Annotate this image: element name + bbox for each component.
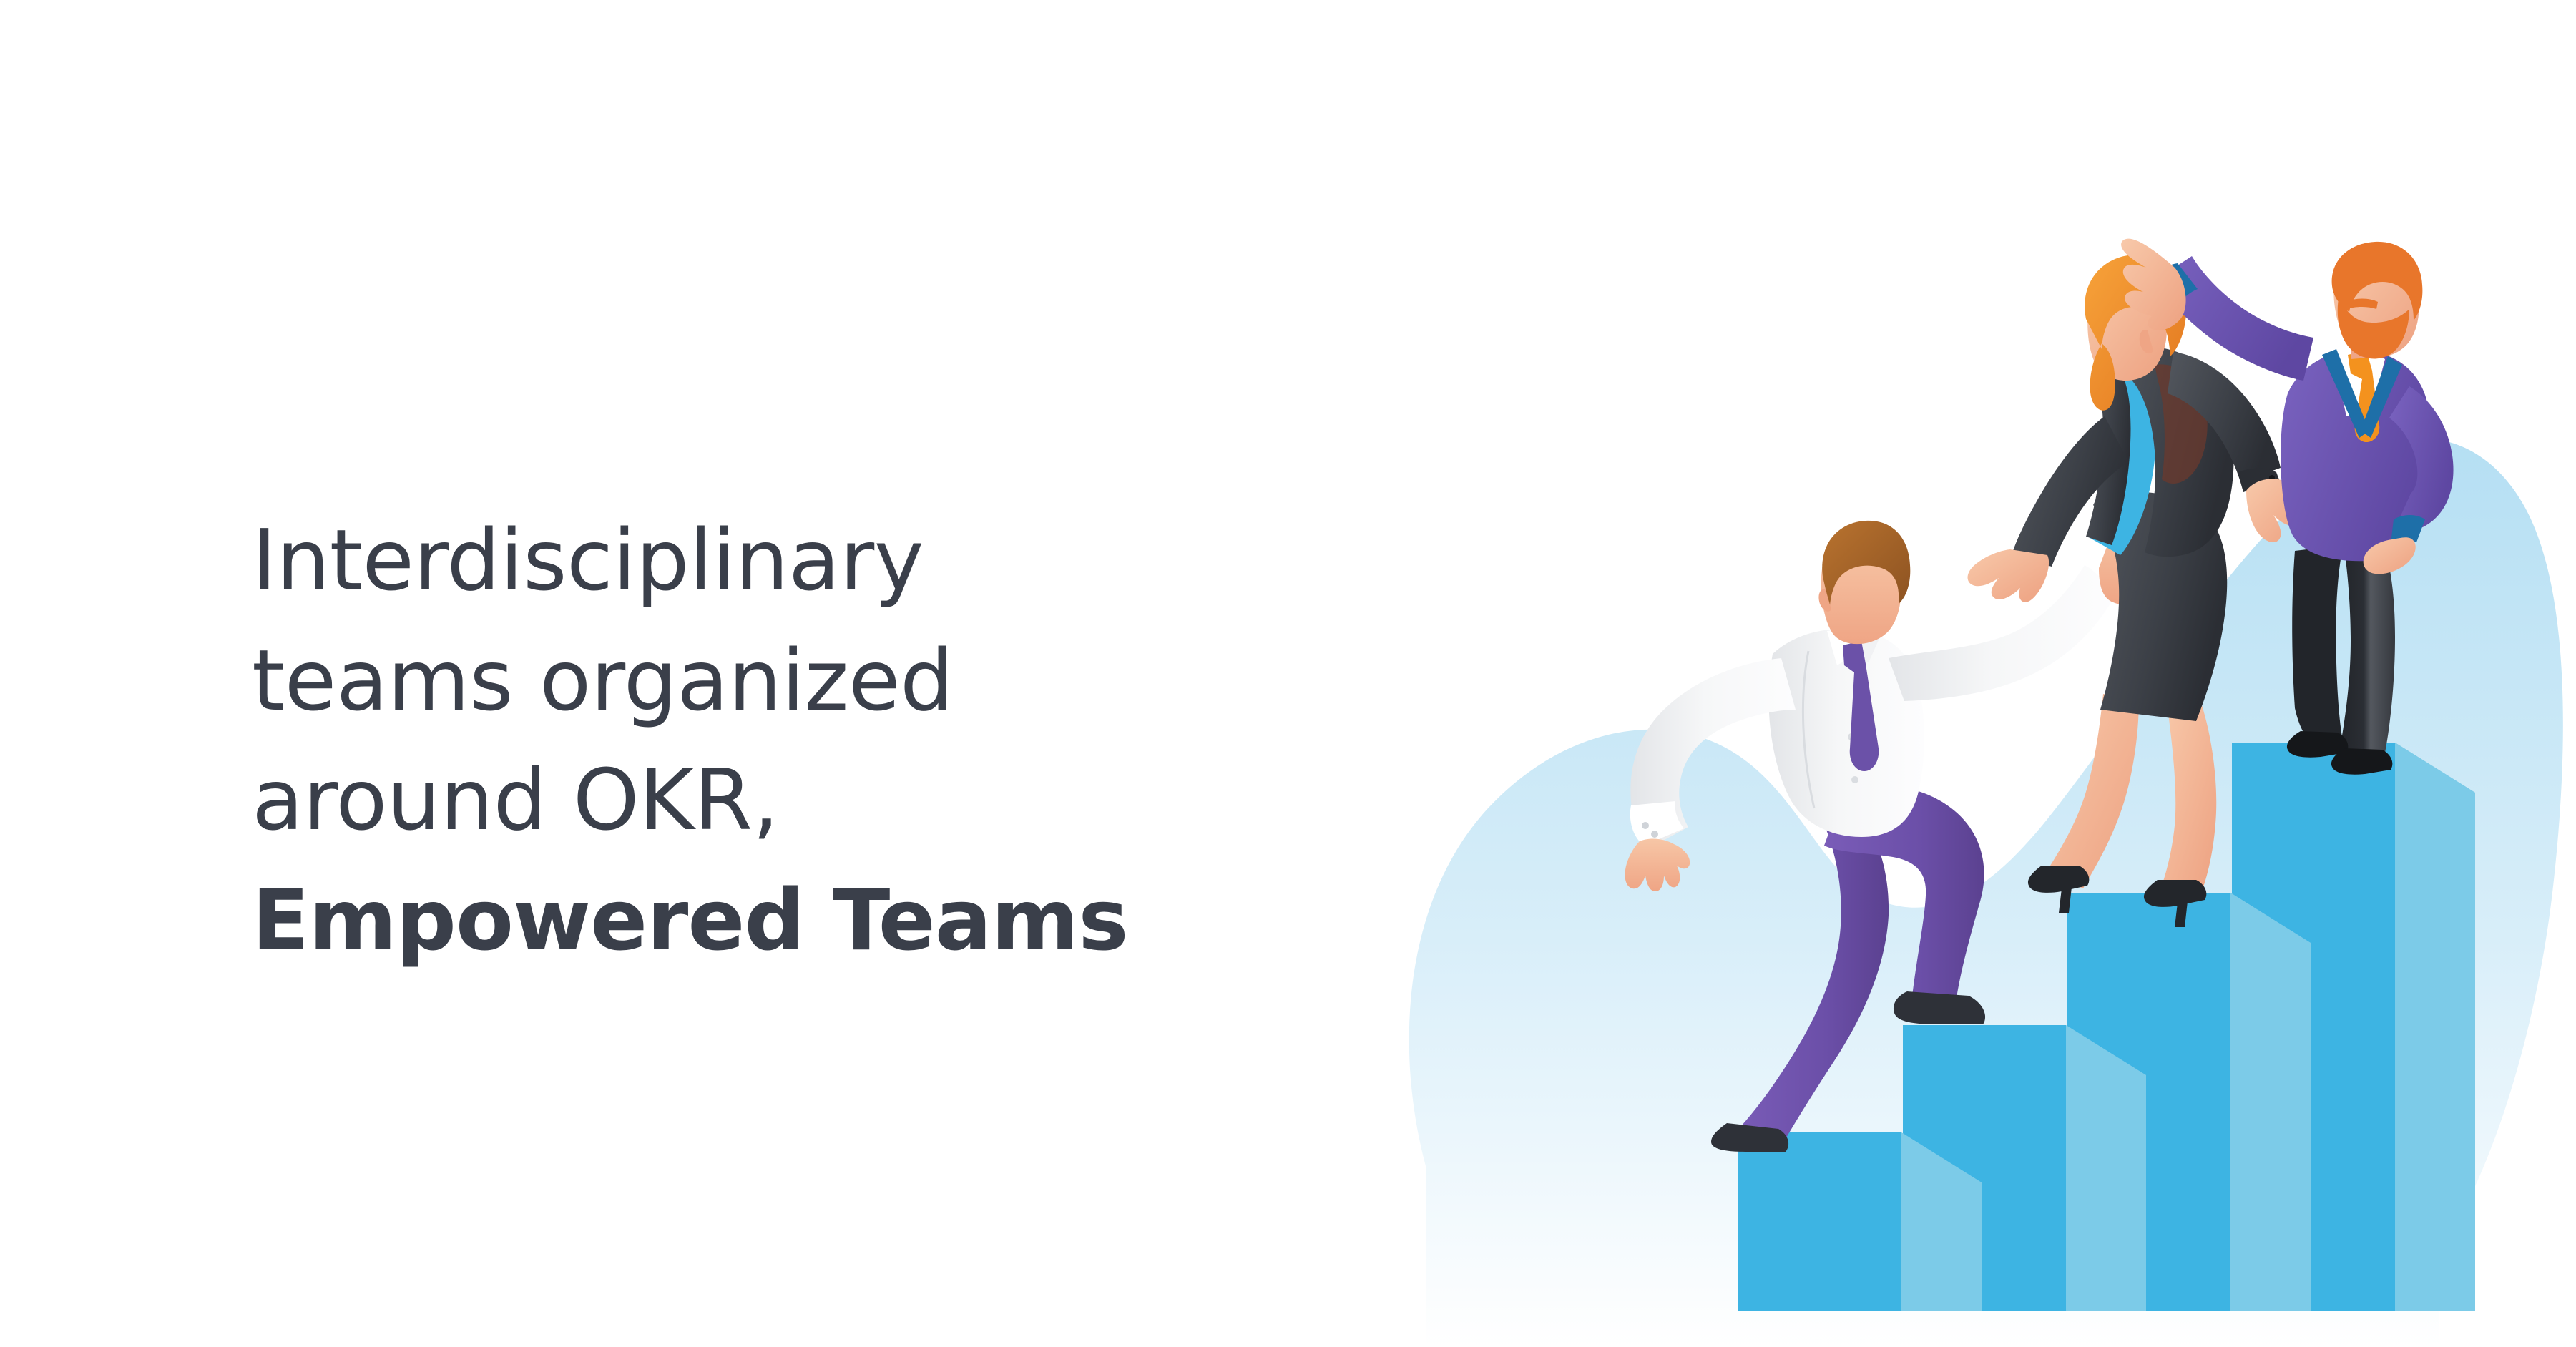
team-climbing-bar-chart-illustration [1381,236,2576,1347]
slide-canvas: Interdisciplinary teams organized around… [0,0,2576,1347]
headline-line-2: teams organized [252,621,1511,741]
headline-line-3: around OKR, [252,740,1511,861]
leader-right-shoe [2331,748,2392,775]
woman-left-hand [1968,549,2049,602]
leader-left-leg [2292,545,2344,737]
headline-line-1: Interdisciplinary [252,501,1511,621]
page-title: Interdisciplinary teams organized around… [252,501,1511,980]
headline-line-4-emphasis: Empowered Teams [252,861,1511,981]
